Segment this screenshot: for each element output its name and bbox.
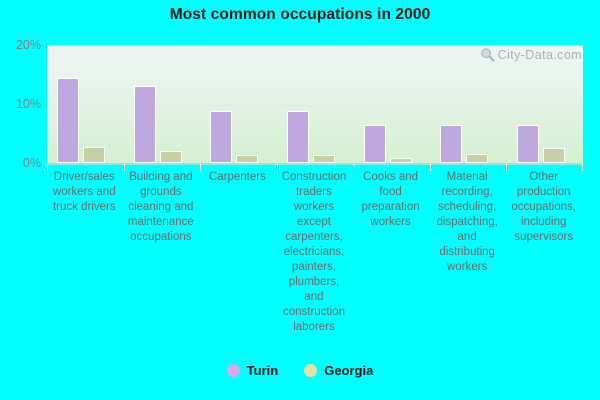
bar-turin-3	[287, 111, 309, 163]
y-axis-tick-label: 0%	[23, 156, 41, 170]
legend-item-georgia[interactable]: Georgia	[304, 363, 373, 378]
x-axis-category-label: Construction traders workers except carp…	[279, 170, 350, 335]
legend-swatch-icon	[304, 364, 317, 377]
bar-georgia-5	[466, 154, 488, 163]
x-axis-separator	[353, 164, 354, 171]
bar-georgia-2	[236, 155, 258, 163]
x-axis-category-label: Driver/sales workers and truck drivers	[49, 170, 120, 215]
x-axis-category-label: Carpenters	[202, 170, 273, 185]
chart-title: Most common occupations in 2000	[0, 6, 600, 24]
x-axis-separator	[506, 164, 507, 171]
bar-turin-0	[57, 78, 79, 163]
y-axis: 0%10%20%	[0, 0, 44, 400]
y-axis-tick-label: 20%	[16, 38, 41, 52]
y-axis-tick-label: 10%	[16, 97, 41, 111]
bar-georgia-3	[313, 155, 335, 163]
x-axis-separator	[582, 164, 583, 171]
chart-legend: TurinGeorgia	[0, 363, 600, 378]
x-axis-line	[47, 163, 583, 165]
x-axis-category-label: Building and grounds cleaning and mainte…	[126, 170, 197, 245]
x-axis-separator	[47, 164, 48, 171]
legend-label: Georgia	[324, 363, 373, 378]
bar-georgia-0	[83, 147, 105, 163]
x-axis-category-label: Other production occupations, including …	[508, 170, 579, 245]
x-axis-separator	[124, 164, 125, 171]
x-axis-category-label: Cooks and food preparation workers	[355, 170, 426, 230]
bar-turin-5	[440, 125, 462, 163]
gridline	[47, 105, 583, 106]
x-axis-separator	[200, 164, 201, 171]
bar-georgia-1	[160, 151, 182, 163]
legend-item-turin[interactable]: Turin	[227, 363, 279, 378]
plot-area	[47, 45, 583, 164]
bar-turin-1	[134, 86, 156, 163]
x-axis-category-label: Material recording, scheduling, dispatch…	[432, 170, 503, 275]
bar-turin-2	[210, 111, 232, 163]
chart-container: Most common occupations in 2000 0%10%20%…	[0, 0, 600, 400]
bar-turin-4	[364, 125, 386, 163]
x-axis-separator	[277, 164, 278, 171]
bar-georgia-4	[390, 158, 412, 163]
legend-label: Turin	[247, 363, 279, 378]
legend-swatch-icon	[227, 364, 240, 377]
bar-georgia-6	[543, 148, 565, 163]
x-axis-separator	[430, 164, 431, 171]
bar-turin-6	[517, 125, 539, 163]
